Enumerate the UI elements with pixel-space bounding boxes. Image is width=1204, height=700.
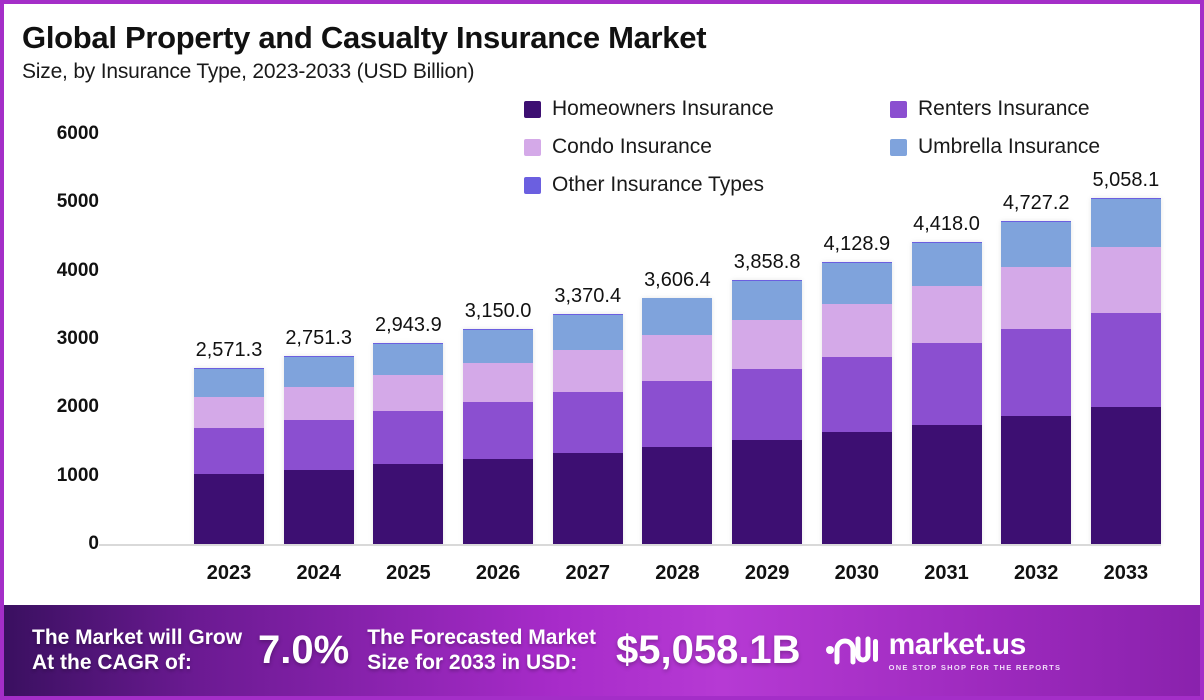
cagr-value: 7.0% — [258, 628, 349, 673]
bar-segment-umbrella-insurance[interactable] — [732, 281, 802, 320]
legend-item-renters-insurance[interactable]: Renters Insurance — [890, 90, 1160, 128]
legend-item-homeowners-insurance[interactable]: Homeowners Insurance — [524, 90, 874, 128]
bar-column-2023[interactable]: 2,571.3 — [194, 368, 264, 544]
y-axis-tick-label: 1000 — [19, 465, 99, 487]
legend-item-label: Renters Insurance — [918, 97, 1090, 121]
cagr-label-line2: At the CAGR of: — [32, 651, 192, 674]
bar-segment-homeowners-insurance[interactable] — [373, 464, 443, 544]
bar-stack — [912, 242, 982, 544]
bar-total-label: 2,751.3 — [285, 327, 352, 350]
bar-column-2033[interactable]: 5,058.1 — [1091, 198, 1161, 544]
bar-segment-condo-insurance[interactable] — [642, 335, 712, 380]
page-title: Global Property and Casualty Insurance M… — [22, 20, 706, 56]
bar-segment-condo-insurance[interactable] — [284, 387, 354, 420]
legend-swatch-icon — [890, 101, 907, 118]
bar-segment-homeowners-insurance[interactable] — [1091, 407, 1161, 544]
infographic-root: Global Property and Casualty Insurance M… — [0, 0, 1204, 700]
y-axis-tick-label: 5000 — [19, 191, 99, 213]
bar-total-label: 4,727.2 — [1003, 192, 1070, 215]
bar-segment-umbrella-insurance[interactable] — [1001, 222, 1071, 267]
bar-stack — [194, 368, 264, 544]
bar-stack — [284, 356, 354, 544]
bar-segment-renters-insurance[interactable] — [1001, 329, 1071, 416]
y-axis-tick-label: 0 — [19, 533, 99, 555]
brand-logo[interactable]: market.us ONE STOP SHOP FOR THE REPORTS — [823, 630, 1062, 672]
bar-segment-condo-insurance[interactable] — [1001, 267, 1071, 329]
bar-segment-umbrella-insurance[interactable] — [463, 330, 533, 363]
y-axis-tick-label: 6000 — [19, 123, 99, 145]
bar-column-2025[interactable]: 2,943.9 — [373, 343, 443, 544]
x-axis-tick-2026: 2026 — [463, 562, 533, 585]
bar-total-label: 2,943.9 — [375, 314, 442, 337]
bar-segment-renters-insurance[interactable] — [642, 381, 712, 447]
cagr-label-line1: The Market will Grow — [32, 626, 242, 649]
bar-segment-renters-insurance[interactable] — [194, 428, 264, 474]
legend-swatch-icon — [524, 101, 541, 118]
y-axis-tick-label: 3000 — [19, 328, 99, 350]
cagr-label: The Market will Grow At the CAGR of: — [32, 626, 242, 676]
header: Global Property and Casualty Insurance M… — [22, 20, 706, 84]
x-axis-tick-2029: 2029 — [732, 562, 802, 585]
bar-segment-umbrella-insurance[interactable] — [194, 369, 264, 397]
bar-segment-homeowners-insurance[interactable] — [194, 474, 264, 544]
bar-segment-homeowners-insurance[interactable] — [553, 453, 623, 544]
x-axis-tick-2025: 2025 — [373, 562, 443, 585]
bar-stack — [1091, 198, 1161, 544]
bar-stack — [732, 280, 802, 544]
bar-total-label: 3,606.4 — [644, 269, 711, 292]
bar-total-label: 4,418.0 — [913, 213, 980, 236]
bar-segment-homeowners-insurance[interactable] — [284, 470, 354, 544]
brand-tagline: ONE STOP SHOP FOR THE REPORTS — [889, 663, 1062, 672]
bar-segment-umbrella-insurance[interactable] — [284, 357, 354, 387]
bar-column-2027[interactable]: 3,370.4 — [553, 314, 623, 544]
x-axis-tick-2023: 2023 — [194, 562, 264, 585]
bar-segment-condo-insurance[interactable] — [912, 286, 982, 343]
x-axis: 2023202420252026202720282029203020312032… — [194, 562, 1161, 585]
bar-segment-homeowners-insurance[interactable] — [732, 440, 802, 544]
bar-segment-homeowners-insurance[interactable] — [463, 459, 533, 544]
bar-segment-umbrella-insurance[interactable] — [553, 315, 623, 350]
x-axis-tick-2024: 2024 — [284, 562, 354, 585]
bar-column-2028[interactable]: 3,606.4 — [642, 298, 712, 544]
forecast-size-label-line1: The Forecasted Market — [367, 626, 596, 649]
bar-column-2030[interactable]: 4,128.9 — [822, 262, 892, 544]
bar-segment-renters-insurance[interactable] — [822, 357, 892, 433]
bar-column-2032[interactable]: 4,727.2 — [1001, 221, 1071, 544]
bar-total-label: 4,128.9 — [823, 233, 890, 256]
bar-total-label: 2,571.3 — [196, 339, 263, 362]
bar-segment-renters-insurance[interactable] — [1091, 313, 1161, 407]
bar-segment-renters-insurance[interactable] — [553, 392, 623, 453]
bar-total-label: 3,370.4 — [554, 285, 621, 308]
bar-group: 2,571.32,751.32,943.93,150.03,370.43,606… — [194, 129, 1161, 544]
x-axis-tick-2032: 2032 — [1001, 562, 1071, 585]
forecast-size-label-line2: Size for 2033 in USD: — [367, 651, 577, 674]
bar-segment-renters-insurance[interactable] — [373, 411, 443, 464]
bar-stack — [822, 262, 892, 544]
bar-segment-umbrella-insurance[interactable] — [1091, 199, 1161, 247]
bar-segment-condo-insurance[interactable] — [732, 320, 802, 369]
bar-stack — [553, 314, 623, 544]
bar-segment-condo-insurance[interactable] — [373, 375, 443, 411]
bar-segment-homeowners-insurance[interactable] — [642, 447, 712, 545]
bar-stack — [373, 343, 443, 544]
bar-segment-condo-insurance[interactable] — [822, 304, 892, 357]
page-subtitle: Size, by Insurance Type, 2023-2033 (USD … — [22, 60, 706, 84]
bar-segment-renters-insurance[interactable] — [284, 420, 354, 469]
bar-total-label: 3,858.8 — [734, 251, 801, 274]
bar-segment-renters-insurance[interactable] — [732, 369, 802, 440]
bar-segment-umbrella-insurance[interactable] — [822, 263, 892, 304]
bar-segment-renters-insurance[interactable] — [912, 343, 982, 424]
bar-stack — [1001, 221, 1071, 544]
bar-segment-renters-insurance[interactable] — [463, 402, 533, 459]
x-axis-tick-2027: 2027 — [553, 562, 623, 585]
bar-segment-homeowners-insurance[interactable] — [912, 425, 982, 544]
chart-plot-area: 6000500040003000200010000 2,571.32,751.3… — [99, 129, 1179, 549]
axis-baseline — [99, 544, 1161, 546]
x-axis-tick-2031: 2031 — [912, 562, 982, 585]
forecast-size-value: $5,058.1B — [616, 628, 801, 673]
x-axis-tick-2030: 2030 — [822, 562, 892, 585]
bar-segment-condo-insurance[interactable] — [553, 350, 623, 392]
brand-text: market.us ONE STOP SHOP FOR THE REPORTS — [889, 630, 1062, 672]
market-us-logo-icon — [823, 631, 879, 670]
bar-segment-umbrella-insurance[interactable] — [912, 243, 982, 286]
legend-item-label: Homeowners Insurance — [552, 97, 774, 121]
bar-column-2026[interactable]: 3,150.0 — [463, 329, 533, 544]
footer-banner: The Market will Grow At the CAGR of: 7.0… — [4, 605, 1200, 696]
bar-segment-umbrella-insurance[interactable] — [373, 344, 443, 376]
bar-column-2024[interactable]: 2,751.3 — [284, 356, 354, 544]
bar-segment-umbrella-insurance[interactable] — [642, 298, 712, 335]
bar-total-label: 3,150.0 — [465, 300, 532, 323]
bar-segment-condo-insurance[interactable] — [1091, 247, 1161, 313]
bar-total-label: 5,058.1 — [1093, 169, 1160, 192]
bar-segment-homeowners-insurance[interactable] — [822, 432, 892, 544]
forecast-size-label: The Forecasted Market Size for 2033 in U… — [367, 626, 596, 676]
bar-segment-condo-insurance[interactable] — [463, 363, 533, 402]
y-axis: 6000500040003000200010000 — [99, 129, 179, 549]
brand-name: market.us — [889, 630, 1062, 660]
bar-segment-homeowners-insurance[interactable] — [1001, 416, 1071, 544]
y-axis-tick-label: 2000 — [19, 396, 99, 418]
bar-column-2029[interactable]: 3,858.8 — [732, 280, 802, 544]
x-axis-tick-2028: 2028 — [642, 562, 712, 585]
bar-stack — [463, 329, 533, 544]
bar-segment-condo-insurance[interactable] — [194, 397, 264, 428]
bar-stack — [642, 298, 712, 544]
bar-column-2031[interactable]: 4,418.0 — [912, 242, 982, 544]
x-axis-tick-2033: 2033 — [1091, 562, 1161, 585]
y-axis-tick-label: 4000 — [19, 260, 99, 282]
